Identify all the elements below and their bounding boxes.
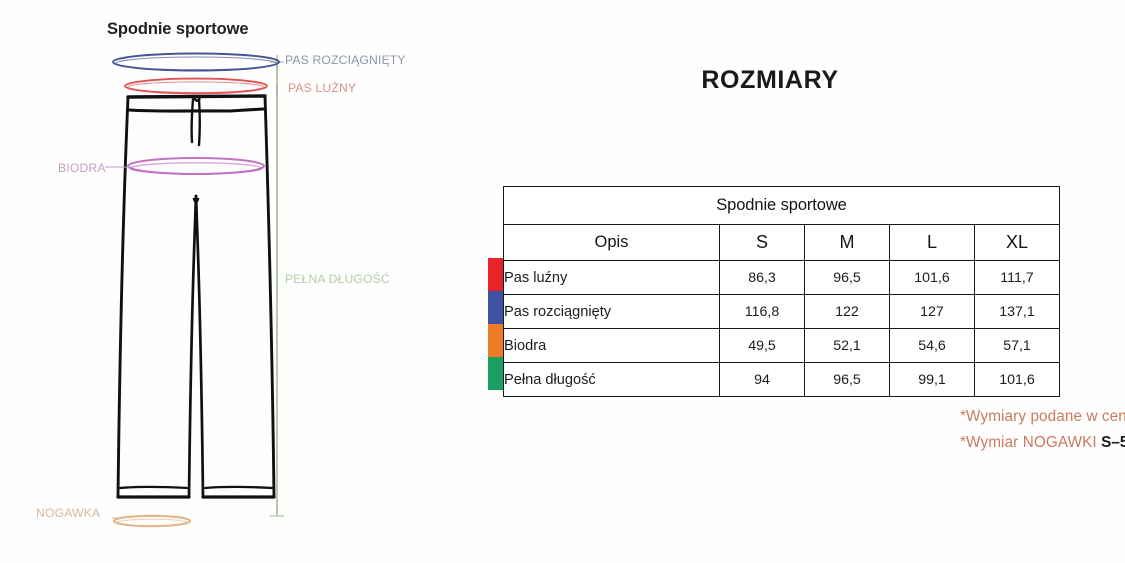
page-title: ROZMIARY xyxy=(470,66,1125,95)
crotch-point xyxy=(193,198,199,203)
row-label: Pas luźny xyxy=(504,261,720,295)
row-color-swatch xyxy=(488,357,503,390)
footnote: *Wymiar NOGAWKI S–53,3 M–55,8 L–58,4 XL–… xyxy=(960,434,1125,452)
diagram-label-waist-relaxed: PAS LUŹNY xyxy=(288,81,356,95)
cell-s: 86,3 xyxy=(720,261,805,295)
cell-xl: 111,7 xyxy=(975,261,1060,295)
footnote: *Wymiary podane w centymetrach xyxy=(960,408,1125,426)
cell-xl: 137,1 xyxy=(975,295,1060,329)
footnotes-block: *Wymiary podane w centymetrach*Wymiar NO… xyxy=(960,408,1125,460)
left-outer-seam xyxy=(118,97,128,497)
left-inner-seam xyxy=(189,196,196,497)
table-row: Pas rozciągnięty116,8122127137,1 xyxy=(504,295,1060,329)
cell-s: 94 xyxy=(720,363,805,397)
size-table-container: Spodnie sportoweOpisSMLXLPas luźny86,396… xyxy=(503,186,1058,397)
cell-s: 116,8 xyxy=(720,295,805,329)
row-color-swatch xyxy=(488,324,503,357)
left-hem-top xyxy=(120,487,188,488)
right-hem-top xyxy=(205,487,273,488)
cell-m: 52,1 xyxy=(805,329,890,363)
row-label: Pas rozciągnięty xyxy=(504,295,720,329)
row-color-swatch xyxy=(488,291,503,324)
size-table-panel: ROZMIARY Spodnie sportoweOpisSMLXLPas lu… xyxy=(470,0,1125,563)
row-label: Biodra xyxy=(504,329,720,363)
drawstring-right xyxy=(199,99,200,145)
column-header-l: L xyxy=(890,225,975,261)
cell-xl: 57,1 xyxy=(975,329,1060,363)
column-header-s: S xyxy=(720,225,805,261)
size-chart-page: Spodnie sportowe xyxy=(0,0,1125,563)
cell-m: 122 xyxy=(805,295,890,329)
column-header-opis: Opis xyxy=(504,225,720,261)
row-label: Pełna długość xyxy=(504,363,720,397)
cell-l: 99,1 xyxy=(890,363,975,397)
table-merged-header-row: Spodnie sportowe xyxy=(504,187,1060,225)
waistband-bottom xyxy=(129,109,263,111)
waistband-top xyxy=(128,96,265,97)
table-row: Pełna długość9496,599,1101,6 xyxy=(504,363,1060,397)
column-header-xl: XL xyxy=(975,225,1060,261)
garment-diagram-panel: Spodnie sportowe xyxy=(0,0,470,563)
cell-l: 101,6 xyxy=(890,261,975,295)
cell-l: 127 xyxy=(890,295,975,329)
pants-illustration xyxy=(0,0,470,563)
cell-xl: 101,6 xyxy=(975,363,1060,397)
footnote-emphasis: S–53,3 M–55,8 L–58,4 XL–59,7 xyxy=(1101,434,1125,451)
cell-m: 96,5 xyxy=(805,261,890,295)
table-row: Pas luźny86,396,5101,6111,7 xyxy=(504,261,1060,295)
table-merged-header-cell: Spodnie sportowe xyxy=(504,187,1060,225)
row-color-swatch xyxy=(488,258,503,291)
table-row: Biodra49,552,154,657,1 xyxy=(504,329,1060,363)
diagram-label-waist-stretched: PAS ROZCIĄGNIĘTY xyxy=(285,53,406,67)
row-color-legend-strip xyxy=(488,258,503,390)
diagram-label-hips: BIODRA xyxy=(58,161,106,175)
diagram-label-leg: NOGAWKA xyxy=(36,506,100,520)
cell-m: 96,5 xyxy=(805,363,890,397)
right-inner-seam xyxy=(196,196,203,497)
diagram-label-full-length: PEŁNA DŁUGOŚĆ xyxy=(285,272,390,286)
cell-s: 49,5 xyxy=(720,329,805,363)
cell-l: 54,6 xyxy=(890,329,975,363)
drawstring-left xyxy=(192,99,193,142)
hips-ellipse xyxy=(128,158,264,174)
right-outer-seam xyxy=(265,96,274,497)
size-table: Spodnie sportoweOpisSMLXLPas luźny86,396… xyxy=(503,186,1060,397)
column-header-m: M xyxy=(805,225,890,261)
table-column-header-row: OpisSMLXL xyxy=(504,225,1060,261)
